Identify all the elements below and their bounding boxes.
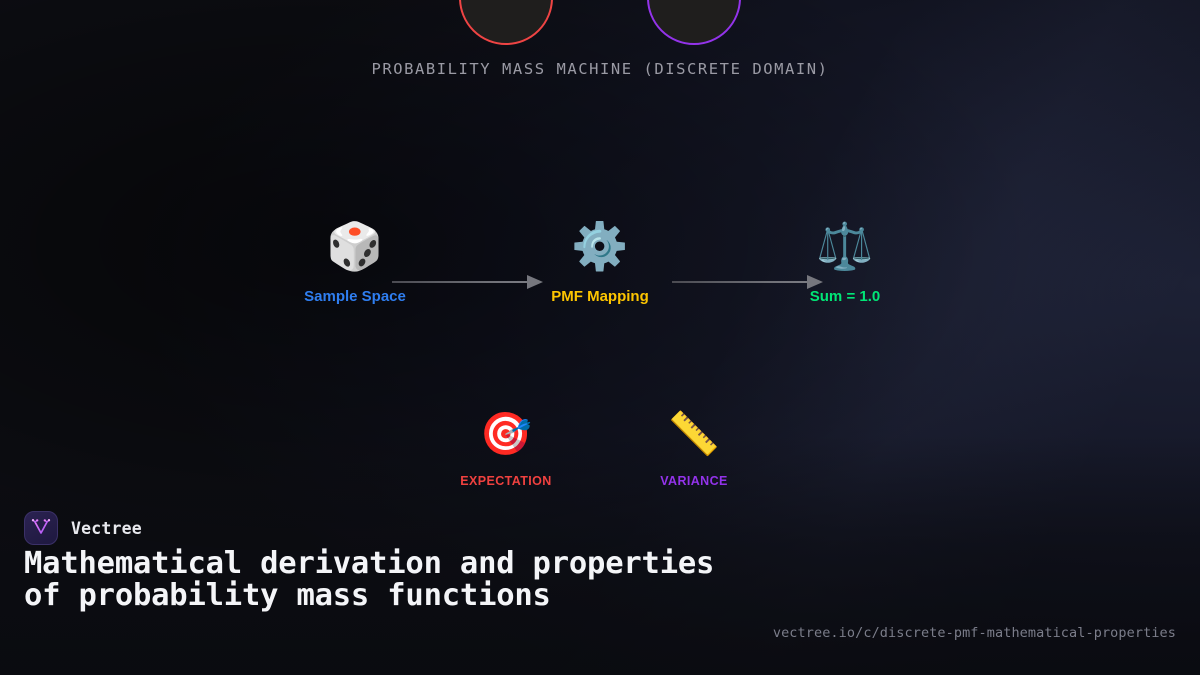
- page-title: Mathematical derivation and properties o…: [24, 548, 724, 612]
- arrow-shaft: [392, 281, 529, 283]
- metric-expectation: 🎯 EXPECTATION: [416, 408, 596, 488]
- gear-icon: ⚙️: [515, 218, 685, 274]
- pipeline-step-label-pmf-mapping: PMF Mapping: [515, 288, 685, 305]
- footer-url: vectree.io/c/discrete-pmf-mathematical-p…: [773, 625, 1176, 641]
- metric-label-expectation: EXPECTATION: [416, 474, 596, 488]
- brand-row: Vectree: [24, 511, 142, 545]
- pipeline-step-sample-space: 🎲 Sample Space: [270, 218, 440, 305]
- pipeline-step-label-sum: Sum = 1.0: [760, 288, 930, 305]
- target-icon: 🎯: [416, 408, 596, 460]
- pipeline-step-pmf-mapping: ⚙️ PMF Mapping: [515, 218, 685, 305]
- metric-variance: 📏 VARIANCE: [604, 408, 784, 488]
- metric-label-variance: VARIANCE: [604, 474, 784, 488]
- brand-name: Vectree: [71, 519, 142, 538]
- balance-scale-icon: ⚖️: [760, 218, 930, 274]
- vectree-logo-icon: [24, 511, 58, 545]
- pipeline-step-label-sample-space: Sample Space: [270, 288, 440, 305]
- die-icon: 🎲: [270, 218, 440, 274]
- pipeline-step-sum: ⚖️ Sum = 1.0: [760, 218, 930, 305]
- ruler-icon: 📏: [604, 408, 784, 460]
